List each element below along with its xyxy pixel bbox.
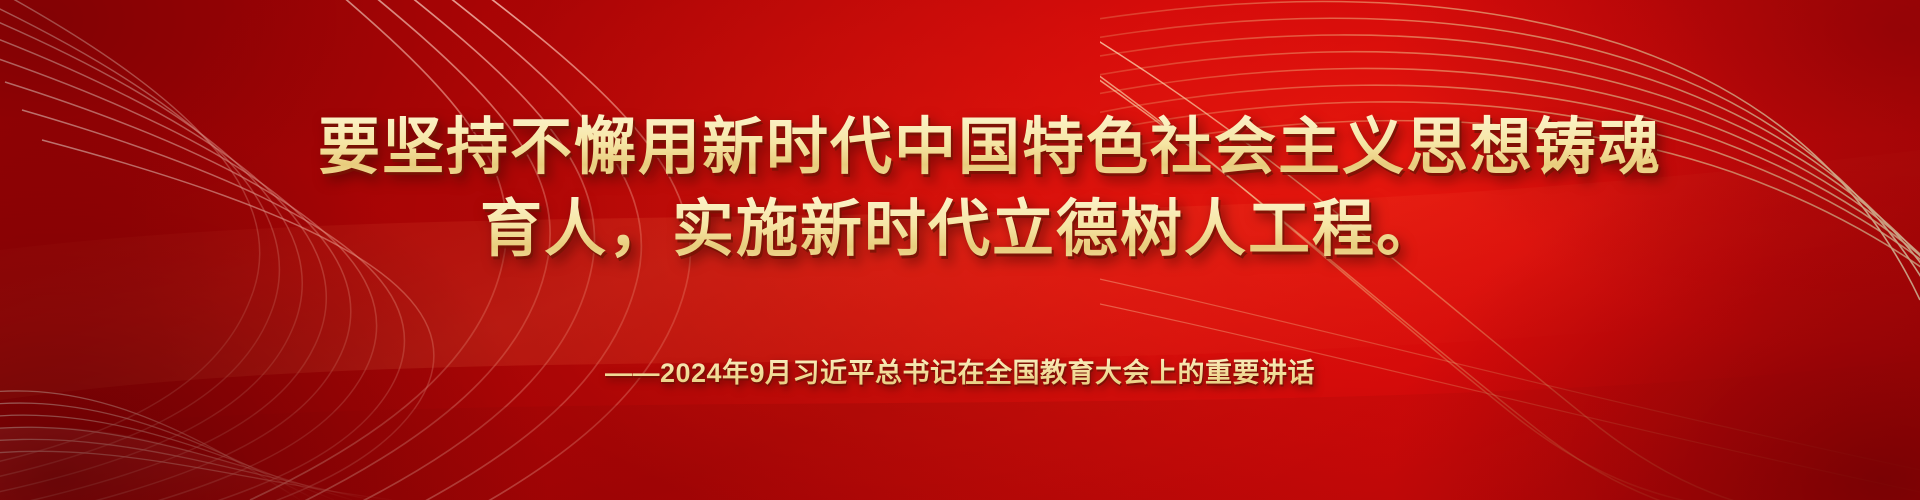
headline-line-1: 要坚持不懈用新时代中国特色社会主义思想铸魂 — [0, 108, 1920, 187]
propaganda-banner: 要坚持不懈用新时代中国特色社会主义思想铸魂 育人，实施新时代立德树人工程。 ——… — [0, 0, 1920, 500]
banner-text-block: 要坚持不懈用新时代中国特色社会主义思想铸魂 育人，实施新时代立德树人工程。 ——… — [0, 0, 1920, 500]
attribution-source: ——2024年9月习近平总书记在全国教育大会上的重要讲话 — [0, 351, 1920, 390]
headline-line-2: 育人，实施新时代立德树人工程。 — [0, 190, 1920, 269]
